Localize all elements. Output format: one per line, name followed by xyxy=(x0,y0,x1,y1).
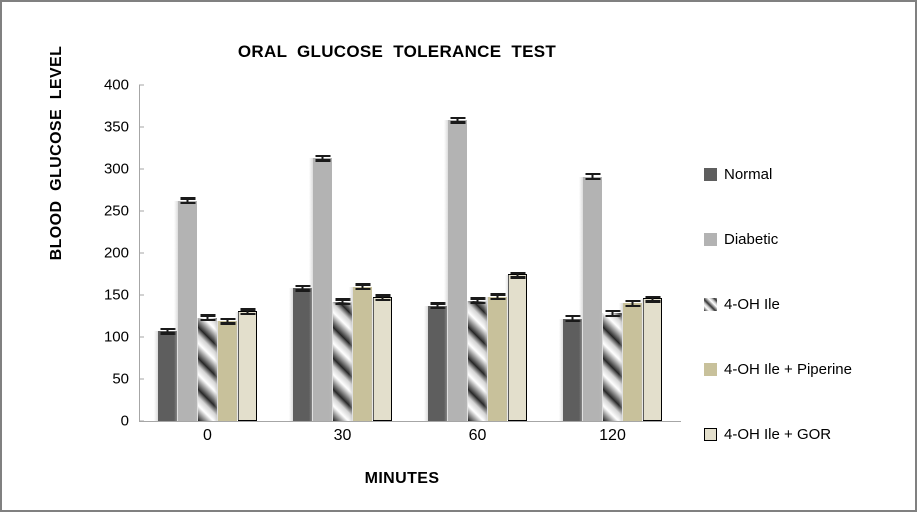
legend-swatch-icon xyxy=(704,428,717,441)
error-bar-cap-bottom xyxy=(430,307,445,309)
error-bar-cap-top xyxy=(645,296,660,298)
error-bar-cap-bottom xyxy=(625,305,640,307)
error-bar-cap-top xyxy=(315,155,330,157)
error-bar-cap-top xyxy=(160,328,175,330)
error-bar-cap-bottom xyxy=(295,289,310,291)
bar-group xyxy=(563,85,662,421)
bar-shadow xyxy=(349,287,353,421)
error-bar-cap-bottom xyxy=(160,332,175,334)
x-axis-line xyxy=(139,421,681,422)
error-bar-cap-bottom xyxy=(375,299,390,301)
error-bar xyxy=(585,173,600,180)
error-bar xyxy=(355,283,370,290)
legend-label: 4-OH Ile xyxy=(724,296,780,313)
error-bar xyxy=(450,117,465,124)
error-bar xyxy=(625,300,640,307)
x-tick-label: 0 xyxy=(203,427,212,445)
error-bar-cap-top xyxy=(565,315,580,317)
error-bar-cap-top xyxy=(430,302,445,304)
legend-item[interactable]: 4-OH Ile xyxy=(704,272,909,337)
error-bar-cap-top xyxy=(220,318,235,320)
error-bar xyxy=(180,197,195,204)
error-bar xyxy=(200,314,215,321)
legend-swatch-icon xyxy=(704,168,717,181)
error-bar xyxy=(430,302,445,309)
error-bar xyxy=(295,285,310,292)
bar-shadow xyxy=(235,312,239,420)
error-bar-cap-top xyxy=(295,285,310,287)
error-bar xyxy=(470,297,485,304)
bar-shadow xyxy=(484,297,488,421)
legend-swatch-icon xyxy=(704,298,717,311)
error-bar-cap-top xyxy=(335,298,350,300)
bar-shadow xyxy=(559,319,563,421)
bar-shadow xyxy=(309,158,313,421)
chart-legend: NormalDiabetic4-OH Ile4-OH Ile + Piperin… xyxy=(704,142,909,467)
error-bar-cap-bottom xyxy=(240,313,255,315)
bar-shadow xyxy=(154,331,158,421)
y-tick-label: 300 xyxy=(104,161,136,178)
y-tick-label: 250 xyxy=(104,203,136,220)
error-bar-cap-bottom xyxy=(645,300,660,302)
bar-shadow xyxy=(329,302,333,421)
legend-label: Diabetic xyxy=(724,231,778,248)
legend-swatch-icon xyxy=(704,363,717,376)
error-bar-cap-bottom xyxy=(585,178,600,180)
chart-container: ORAL GLUCOSE TOLERANCE TEST BLOOD GLUCOS… xyxy=(0,0,917,512)
error-bar xyxy=(315,155,330,162)
y-tick-label: 200 xyxy=(104,245,136,262)
error-bar-cap-bottom xyxy=(450,121,465,123)
error-bar-cap-top xyxy=(625,300,640,302)
error-bar-cap-top xyxy=(200,314,215,316)
legend-label: 4-OH Ile + GOR xyxy=(724,426,831,443)
y-tick-label: 100 xyxy=(104,329,136,346)
y-tick-label: 0 xyxy=(121,413,136,430)
bar-shadow xyxy=(619,303,623,421)
y-tick-label: 400 xyxy=(104,77,136,94)
error-bar-cap-top xyxy=(510,272,525,274)
chart-title: ORAL GLUCOSE TOLERANCE TEST xyxy=(2,42,792,62)
error-bar-cap-top xyxy=(180,197,195,199)
legend-item[interactable]: 4-OH Ile + GOR xyxy=(704,402,909,467)
bar-column[interactable] xyxy=(238,85,257,421)
error-bar-cap-top xyxy=(585,173,600,175)
bar-shadow xyxy=(214,321,218,421)
error-bar-cap-bottom xyxy=(565,320,580,322)
error-bar-cap-bottom xyxy=(470,302,485,304)
error-bar-cap-bottom xyxy=(355,288,370,290)
bar-group xyxy=(428,85,527,421)
legend-swatch-icon xyxy=(704,233,717,246)
x-axis-title: MINUTES xyxy=(117,470,687,488)
error-bar-cap-top xyxy=(355,283,370,285)
bar-shadow xyxy=(370,298,374,420)
bar-shadow xyxy=(640,299,644,420)
bar-shadow xyxy=(464,301,468,421)
error-bar xyxy=(220,318,235,325)
error-bar-cap-top xyxy=(470,297,485,299)
y-tick-label: 150 xyxy=(104,287,136,304)
bar-column[interactable] xyxy=(643,85,662,421)
bar-shadow xyxy=(505,275,509,420)
bar-shadow xyxy=(424,306,428,421)
error-bar-cap-bottom xyxy=(315,159,330,161)
y-tick-label: 50 xyxy=(112,371,136,388)
error-bar-cap-top xyxy=(490,293,505,295)
bar-column[interactable] xyxy=(373,85,392,421)
error-bar xyxy=(490,293,505,300)
plot-area xyxy=(140,85,680,421)
legend-item[interactable]: Diabetic xyxy=(704,207,909,272)
error-bar xyxy=(565,315,580,322)
bar-shadow xyxy=(579,177,583,421)
legend-item[interactable]: 4-OH Ile + Piperine xyxy=(704,337,909,402)
bar-shadow xyxy=(174,201,178,421)
error-bar-cap-bottom xyxy=(220,322,235,324)
bar-shadow xyxy=(444,120,448,421)
error-bar xyxy=(335,298,350,305)
bar[interactable] xyxy=(238,311,257,421)
error-bar xyxy=(605,310,620,317)
bar[interactable] xyxy=(643,298,662,421)
bar-group xyxy=(293,85,392,421)
y-axis-title: BLOOD GLUCOSE LEVEL xyxy=(48,13,66,293)
x-tick-label: 30 xyxy=(334,427,352,445)
x-tick-label: 60 xyxy=(469,427,487,445)
legend-label: 4-OH Ile + Piperine xyxy=(724,361,852,378)
error-bar-cap-top xyxy=(450,117,465,119)
error-bar-cap-bottom xyxy=(490,298,505,300)
error-bar-cap-top xyxy=(240,308,255,310)
x-tick-label: 120 xyxy=(599,427,626,445)
bar-shadow xyxy=(194,318,198,421)
error-bar-cap-bottom xyxy=(200,319,215,321)
bar-shadow xyxy=(599,313,603,421)
legend-item[interactable]: Normal xyxy=(704,142,909,207)
legend-label: Normal xyxy=(724,166,772,183)
bar-shadow xyxy=(289,288,293,421)
error-bar xyxy=(160,328,175,335)
error-bar-cap-top xyxy=(375,294,390,296)
error-bar xyxy=(645,296,660,303)
error-bar xyxy=(510,272,525,279)
bar-group xyxy=(158,85,257,421)
error-bar xyxy=(375,294,390,301)
error-bar-cap-bottom xyxy=(510,276,525,278)
bar[interactable] xyxy=(508,274,527,421)
error-bar-cap-top xyxy=(605,310,620,312)
error-bar-cap-bottom xyxy=(605,315,620,317)
error-bar-cap-bottom xyxy=(180,202,195,204)
error-bar-cap-bottom xyxy=(335,303,350,305)
y-tick-label: 350 xyxy=(104,119,136,136)
bar-column[interactable] xyxy=(508,85,527,421)
bar[interactable] xyxy=(373,297,392,421)
error-bar xyxy=(240,308,255,315)
